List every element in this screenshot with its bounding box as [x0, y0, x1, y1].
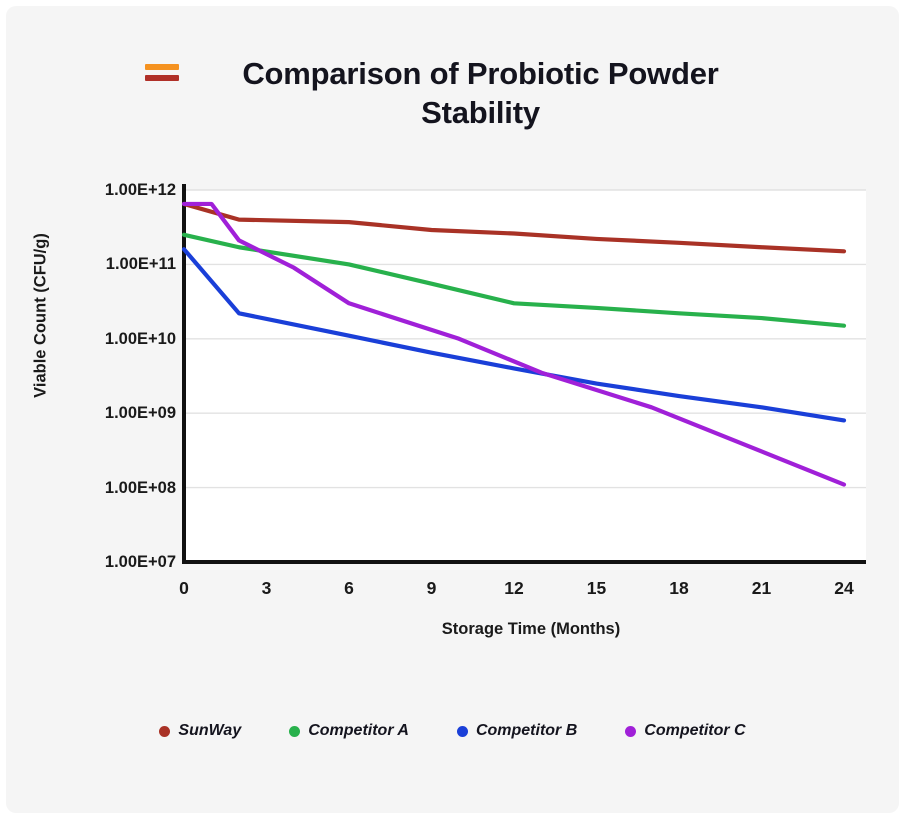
y-axis-tick-labels: 1.00E+071.00E+081.00E+091.00E+101.00E+11… — [61, 6, 176, 813]
x-tick-label: 18 — [649, 578, 709, 599]
chart-card: Comparison of Probiotic Powder Stability… — [6, 6, 899, 813]
x-tick-label: 9 — [402, 578, 462, 599]
legend-marker-dot-icon — [159, 726, 170, 737]
x-tick-label: 3 — [237, 578, 297, 599]
plot-area: 1.00E+071.00E+081.00E+091.00E+101.00E+11… — [6, 6, 899, 813]
legend-item[interactable]: Competitor C — [625, 722, 745, 740]
y-tick-label: 1.00E+12 — [66, 181, 176, 200]
y-tick-label: 1.00E+07 — [66, 553, 176, 572]
y-tick-label: 1.00E+08 — [66, 479, 176, 498]
legend-label: SunWay — [178, 722, 241, 740]
legend-item[interactable]: Competitor A — [289, 722, 409, 740]
x-tick-label: 12 — [484, 578, 544, 599]
x-tick-label: 15 — [567, 578, 627, 599]
y-tick-label: 1.00E+09 — [66, 404, 176, 423]
legend-label: Competitor C — [644, 722, 745, 740]
legend-item[interactable]: Competitor B — [457, 722, 577, 740]
legend-marker-dot-icon — [289, 726, 300, 737]
y-tick-label: 1.00E+11 — [66, 255, 176, 274]
x-tick-label: 0 — [154, 578, 214, 599]
legend-item[interactable]: SunWay — [159, 722, 241, 740]
x-axis-title: Storage Time (Months) — [186, 620, 876, 639]
x-tick-label: 21 — [732, 578, 792, 599]
legend-label: Competitor B — [476, 722, 577, 740]
x-tick-label: 24 — [814, 578, 874, 599]
legend-marker-dot-icon — [457, 726, 468, 737]
x-tick-label: 6 — [319, 578, 379, 599]
y-axis-title: Viable Count (CFU/g) — [32, 186, 51, 446]
chart-legend: SunWayCompetitor ACompetitor BCompetitor… — [6, 722, 899, 740]
legend-label: Competitor A — [308, 722, 409, 740]
legend-marker-dot-icon — [625, 726, 636, 737]
y-tick-label: 1.00E+10 — [66, 330, 176, 349]
